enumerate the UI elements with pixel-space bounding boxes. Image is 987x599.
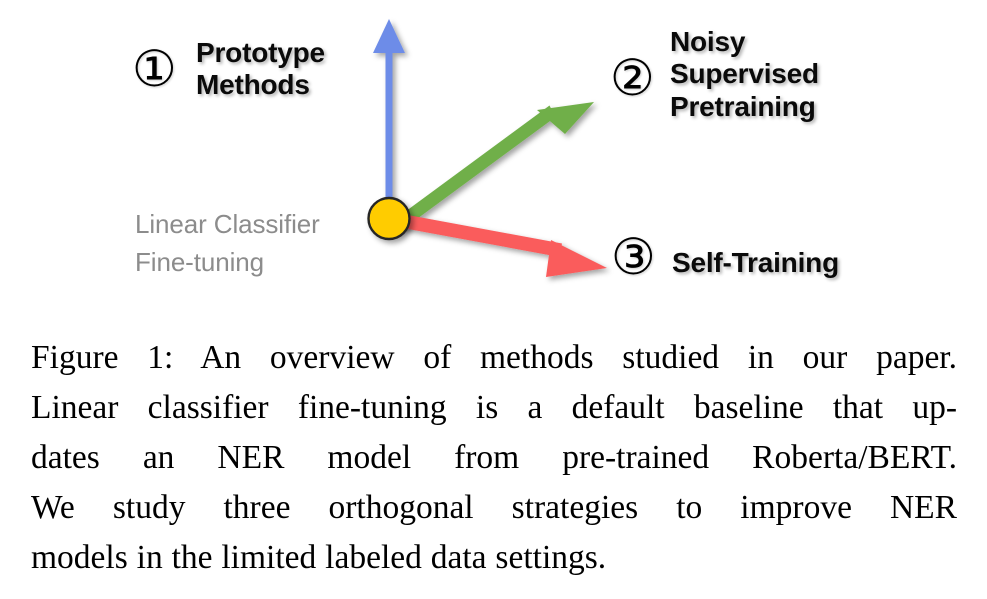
- branch-label-noisy-supervised-pretraining: Noisy Supervised Pretraining: [670, 26, 819, 123]
- arrow-noisy-supervised-pretraining: [391, 102, 595, 234]
- branch-number-3: ③: [611, 232, 656, 282]
- figure-caption: Figure 1: An overview of methods studied…: [31, 333, 957, 583]
- caption-line: dates an NER model from pre-trained Robe…: [31, 433, 957, 483]
- branch-label-prototype-methods: Prototype Methods: [196, 37, 325, 102]
- branch-number-2: ②: [610, 53, 655, 103]
- branch-number-1: ①: [132, 44, 177, 94]
- figure-page: ① Prototype Methods ② Noisy Supervised P…: [0, 0, 987, 599]
- caption-line: Linear classifier fine-tuning is a defau…: [31, 383, 957, 433]
- method-overview-diagram: ① Prototype Methods ② Noisy Supervised P…: [0, 0, 987, 315]
- caption-line: models in the limited labeled data setti…: [31, 533, 957, 583]
- arrow-prototype-methods: [373, 19, 405, 211]
- arrow-self-training: [389, 212, 607, 277]
- caption-line: Figure 1: An overview of methods studied…: [31, 333, 957, 383]
- branch-label-self-training: Self-Training: [672, 247, 839, 279]
- hub-node-linear-classifier: [369, 198, 410, 239]
- caption-line: We study three orthogonal strategies to …: [31, 483, 957, 533]
- hub-label-linear-classifier-fine-tuning: Linear Classifier Fine-tuning: [135, 206, 320, 281]
